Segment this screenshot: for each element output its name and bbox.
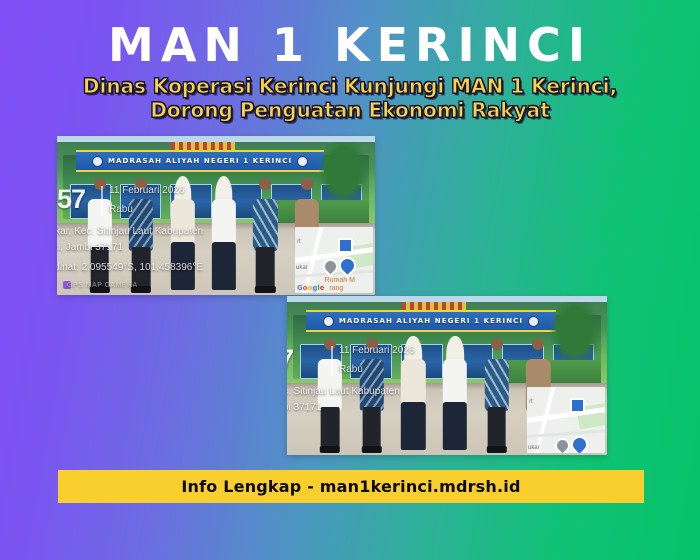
torso [253,199,277,252]
head [366,338,378,350]
torso [318,359,342,412]
school-logo-icon [528,316,539,327]
head [301,178,313,190]
map-marker-blue-icon [568,432,592,453]
school-logo-icon [323,316,334,327]
people-group [316,336,553,450]
person [357,336,385,450]
poster-canvas: MAN 1 KERINCI Dinas Koperasi Kerinci Kun… [0,0,700,560]
map-inset[interactable]: rt ukar [527,387,605,453]
head [135,178,147,190]
person [441,336,469,450]
person [210,176,238,290]
person [168,176,196,290]
map-inset[interactable]: rt ukar Rumah M rang Google [295,227,373,293]
shoes [486,446,506,453]
map-label-sukar: ukar [296,265,308,271]
tree [318,142,369,206]
map-marker-square-icon [570,398,585,413]
skirt [401,402,425,450]
map-marker-square-icon [338,238,353,253]
torso [359,359,383,412]
skirt [212,242,236,290]
head [532,338,544,350]
subtitle-line-1: Dinas Koperasi Kerinci Kunjungi MAN 1 Ke… [0,74,700,98]
google-watermark: Google [297,284,325,292]
map-label-sukar: ukar [528,445,540,451]
school-name-banner: MADRASAH ALIYAH NEGERI 1 KERINCI [306,310,556,331]
head [324,338,336,350]
torso [88,199,112,252]
school-banner-text: MADRASAH ALIYAH NEGERI 1 KERINCI [339,317,523,325]
skirt [443,402,467,450]
photo-card-2[interactable]: MADRASAH ALIYAH NEGERI 1 KERINCI [287,296,607,455]
school-name-banner: MADRASAH ALIYAH NEGERI 1 KERINCI [76,150,324,171]
person [86,176,114,290]
torso [129,199,153,252]
shoes [361,446,381,453]
shoes [90,286,110,293]
shoes [320,446,340,453]
skirt [170,242,194,290]
head [259,178,271,190]
legs [362,407,381,450]
photo-card-1[interactable]: MADRASAH ALIYAH NEGERI 1 KERINCI [57,136,375,295]
people-group [86,176,321,290]
decorative-flag [171,142,235,150]
map-road [527,428,605,438]
footer-info-bar[interactable]: Info Lengkap - man1kerinci.mdrsh.id [58,470,644,503]
person [482,336,510,450]
page-subtitle: Dinas Koperasi Kerinci Kunjungi MAN 1 Ke… [0,74,700,123]
head [94,178,106,190]
map-label-rumah: Rumah M [325,277,355,284]
legs [90,247,109,290]
legs [132,247,151,290]
school-logo-icon [297,156,308,167]
tree [549,302,600,366]
footer-info-text: Info Lengkap - man1kerinci.mdrsh.id [181,477,520,496]
map-label-rt: rt [297,239,301,245]
torso [484,359,508,412]
legs [487,407,506,450]
head [491,338,503,350]
page-title: MAN 1 KERINCI [0,22,700,68]
subtitle-line-2: Dorong Penguatan Ekonomi Rakyat [0,98,700,122]
map-label-serang: rang [329,285,343,292]
legs [256,247,275,290]
shoes [255,286,275,293]
shoes [131,286,151,293]
school-banner-text: MADRASAH ALIYAH NEGERI 1 KERINCI [108,157,292,165]
map-label-rt: rt [529,399,533,405]
decorative-flag [402,302,466,310]
person [127,176,155,290]
person [316,336,344,450]
person [251,176,279,290]
school-logo-icon [92,156,103,167]
person [399,336,427,450]
legs [321,407,340,450]
